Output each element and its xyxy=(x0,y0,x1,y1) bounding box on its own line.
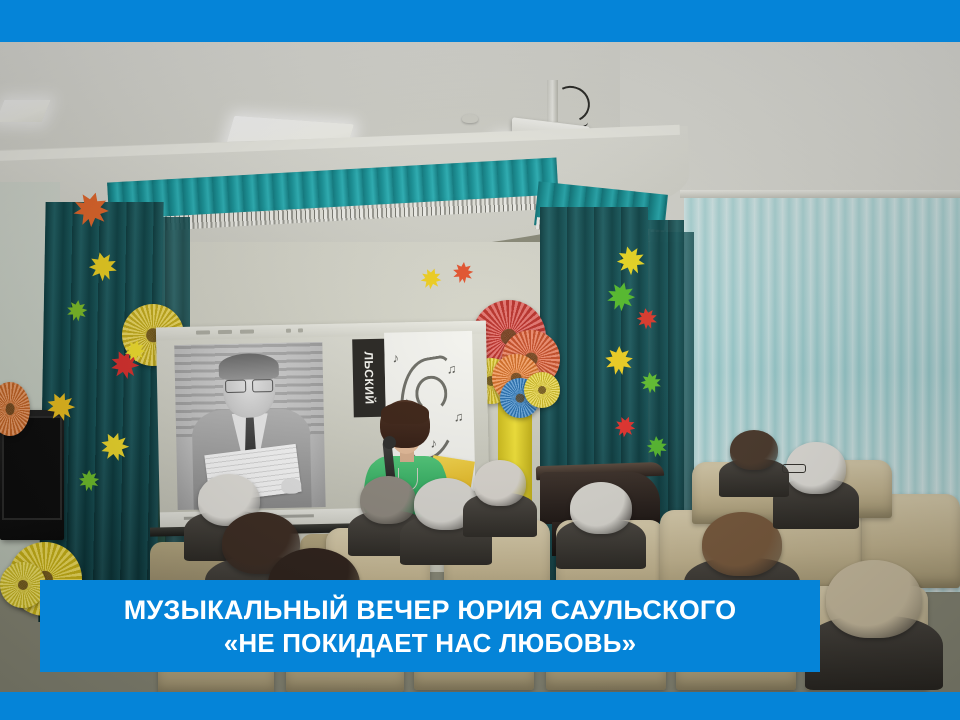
audience-white-hair-mid xyxy=(474,460,526,506)
glasses-icon xyxy=(782,464,806,473)
caption-subtitle-line: «НЕ ПОКИДАЕТ НАС ЛЮБОВЬ» xyxy=(224,630,637,656)
audience-dark-hair-far xyxy=(730,430,778,470)
slide-vertical-title-text: ЛЬСКИЙ xyxy=(361,351,376,404)
caption-banner: МУЗЫКАЛЬНЫЙ ВЕЧЕР ЮРИЯ САУЛЬСКОГО «НЕ ПО… xyxy=(40,580,820,672)
top-brand-bar xyxy=(0,0,960,42)
music-note-icon: ♫ xyxy=(447,361,457,376)
projector-mount-rod xyxy=(547,80,558,122)
smoke-detector-icon xyxy=(462,114,478,123)
paper-fan-decoration xyxy=(524,372,560,408)
event-poster: ЛЬСКИЙ ♪ ♫ ♪ ♫ ♪ ♪ ♫ xyxy=(0,0,960,720)
slide-portrait-hand xyxy=(281,478,301,493)
bottom-brand-bar xyxy=(0,692,960,720)
audience-white-hair-right xyxy=(570,482,632,534)
microphone-head-icon xyxy=(383,436,396,449)
audience-brown-hair-right xyxy=(702,512,782,576)
slide-portrait-hair xyxy=(218,353,279,380)
curtain-rail xyxy=(680,190,960,198)
caption-title-line: МУЗЫКАЛЬНЫЙ ВЕЧЕР ЮРИЯ САУЛЬСКОГО xyxy=(124,597,737,624)
audience-grey-hair-mid xyxy=(360,476,416,524)
ceiling-light-panel xyxy=(0,100,50,122)
presenter-hair-fringe xyxy=(381,402,429,424)
glasses-icon xyxy=(225,379,273,391)
audience-blonde-bottom xyxy=(826,560,922,638)
music-note-icon: ♪ xyxy=(392,350,399,365)
